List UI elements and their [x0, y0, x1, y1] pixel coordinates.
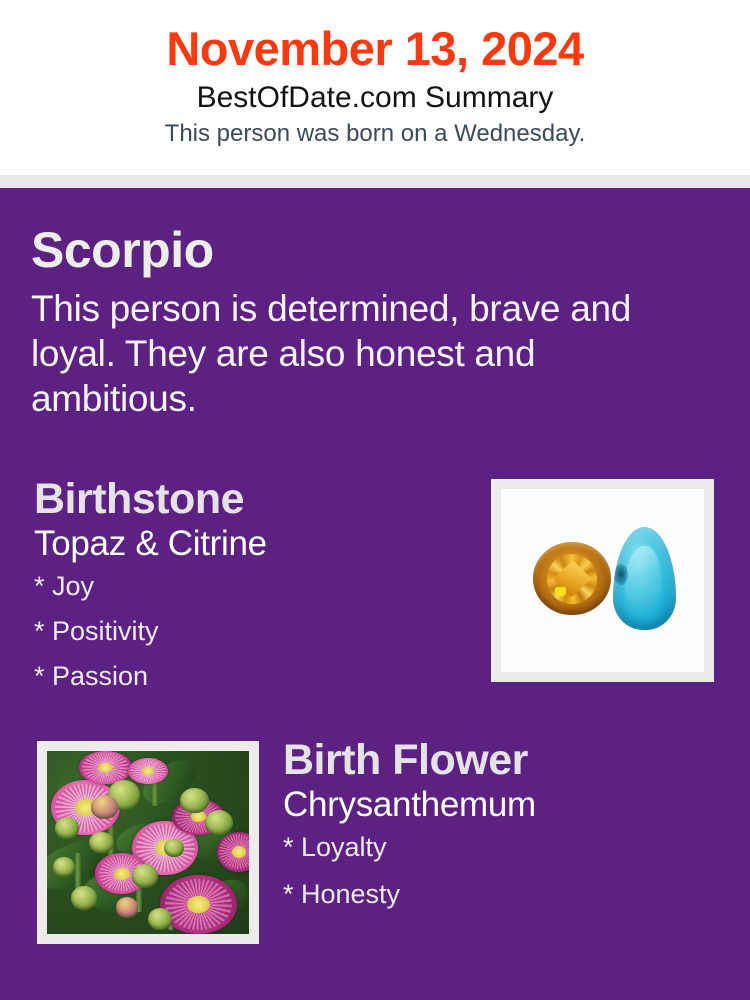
birth-flower-trait-list: * Loyalty * Honesty	[283, 834, 723, 908]
birthstone-trait-list: * Joy * Positivity * Passion	[34, 573, 474, 690]
list-item: * Passion	[34, 663, 474, 690]
flower-bud	[55, 817, 79, 839]
card-header: November 13, 2024 BestOfDate.com Summary…	[0, 0, 750, 175]
flower-bud	[116, 897, 138, 917]
birthstone-title: Birthstone	[34, 477, 474, 522]
zodiac-description: This person is determined, brave and loy…	[31, 286, 691, 421]
site-name: BestOfDate.com Summary	[0, 80, 750, 116]
flower-bud	[180, 788, 208, 814]
citrine-gem-icon	[533, 542, 610, 615]
flower-bud	[132, 864, 158, 888]
birth-flower-title: Birth Flower	[283, 738, 723, 783]
list-item: * Joy	[34, 573, 474, 600]
list-item: * Honesty	[283, 881, 723, 908]
flower-bud	[205, 810, 233, 836]
citrine-flash	[555, 587, 566, 596]
topaz-gem-icon	[613, 527, 676, 629]
zodiac-section: Scorpio This person is determined, brave…	[31, 224, 701, 421]
chrysanthemum-bloom	[128, 758, 168, 784]
chrysanthemum-bloom	[160, 875, 237, 934]
chrysanthemum-bloom	[79, 751, 132, 784]
zodiac-sign-name: Scorpio	[31, 224, 701, 277]
flower-bud	[89, 832, 113, 854]
birth-flower-section: Birth Flower Chrysanthemum * Loyalty * H…	[283, 738, 723, 928]
header-divider	[0, 175, 750, 188]
page-title: November 13, 2024	[0, 22, 750, 77]
birthstone-photo-frame	[491, 479, 714, 682]
born-day-text: This person was born on a Wednesday.	[0, 120, 750, 149]
chrysanthemum-image	[47, 751, 249, 934]
birth-flower-name: Chrysanthemum	[283, 785, 723, 824]
birth-flower-photo-frame	[37, 741, 259, 944]
gemstone-image	[501, 489, 704, 672]
birth-flower-photo	[47, 751, 249, 934]
flower-bud	[91, 795, 117, 819]
birthstone-name: Topaz & Citrine	[34, 524, 474, 563]
summary-card: November 13, 2024 BestOfDate.com Summary…	[0, 0, 750, 1000]
list-item: * Loyalty	[283, 834, 723, 861]
list-item: * Positivity	[34, 618, 474, 645]
birthstone-section: Birthstone Topaz & Citrine * Joy * Posit…	[34, 477, 474, 708]
birthstone-photo	[501, 489, 704, 672]
